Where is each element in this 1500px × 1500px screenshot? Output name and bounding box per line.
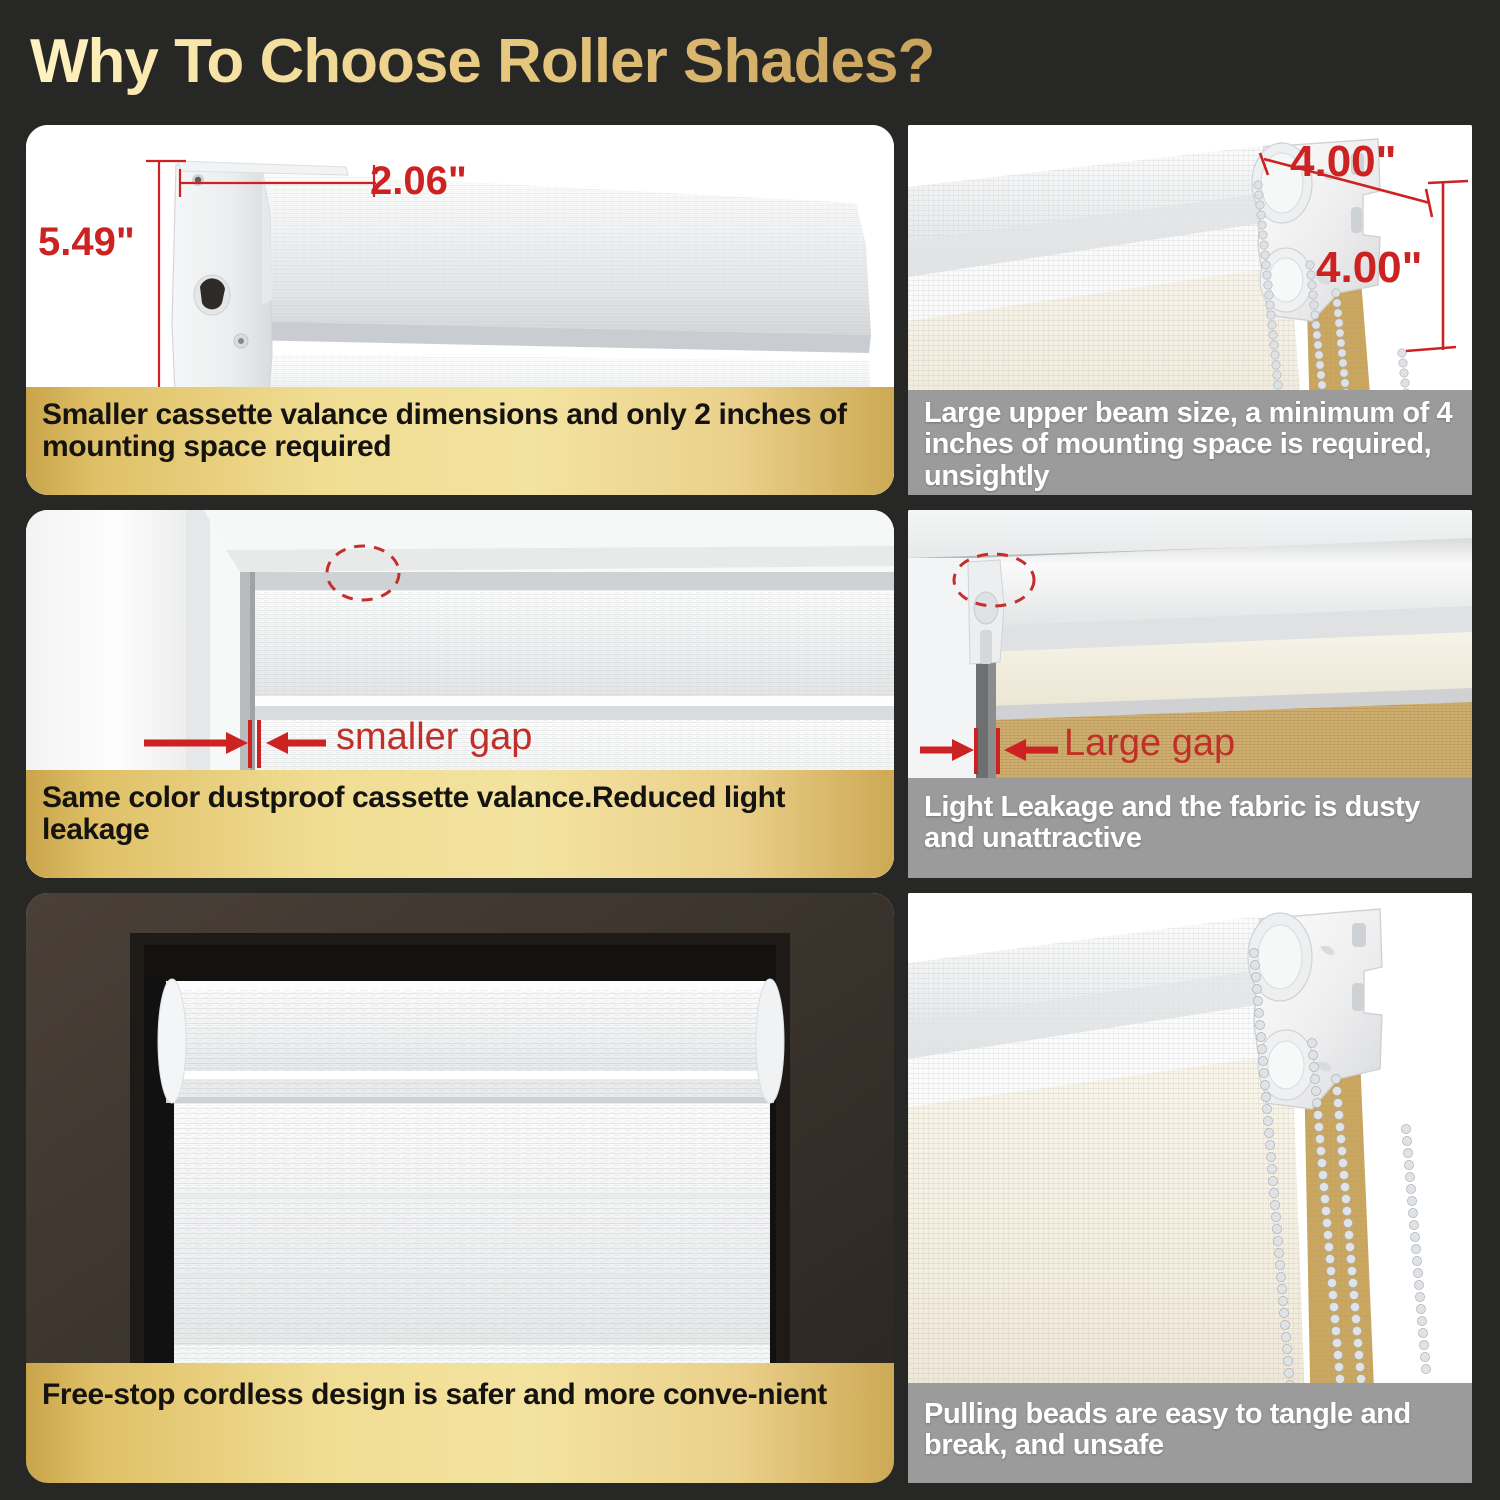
dimension-label-height: 4.00": [1316, 243, 1423, 293]
panel-4-caption: Light Leakage and the fabric is dusty an…: [908, 778, 1472, 878]
panel-6-caption: Pulling beads are easy to tangle and bre…: [908, 1383, 1472, 1483]
panel-light-leakage[interactable]: Large gap Light Leakage and the fabric i…: [908, 510, 1472, 878]
dimension-label-height: 5.49": [38, 220, 135, 265]
panel-cordless-design[interactable]: Free-stop cordless design is safer and m…: [26, 893, 894, 1483]
panel-2-caption: Large upper beam size, a minimum of 4 in…: [908, 390, 1472, 495]
page-title-text: Why To Choose Roller Shades?: [30, 26, 934, 97]
dimension-label-width: 2.06": [370, 159, 467, 204]
gap-callout-label: Large gap: [1064, 722, 1235, 765]
panel-dustproof-valance[interactable]: smaller gap Same color dustproof cassett…: [26, 510, 894, 878]
page-title: Why To Choose Roller Shades?: [30, 20, 1130, 102]
dimension-label-width: 4.00": [1290, 137, 1397, 187]
panel-large-upper-beam[interactable]: 4.00" 4.00" Large upper beam size, a min…: [908, 125, 1472, 495]
panel-5-caption: Free-stop cordless design is safer and m…: [26, 1363, 894, 1483]
panel-pulling-beads[interactable]: Pulling beads are easy to tangle and bre…: [908, 893, 1472, 1483]
comparison-grid: 2.06" 5.49" Smaller cassette valance dim…: [0, 110, 1500, 1500]
panel-3-caption: Same color dustproof cassette valance.Re…: [26, 770, 894, 878]
gap-callout-label: smaller gap: [336, 716, 532, 759]
panel-1-caption: Smaller cassette valance dimensions and …: [26, 387, 894, 495]
panel-smaller-cassette[interactable]: 2.06" 5.49" Smaller cassette valance dim…: [26, 125, 894, 495]
